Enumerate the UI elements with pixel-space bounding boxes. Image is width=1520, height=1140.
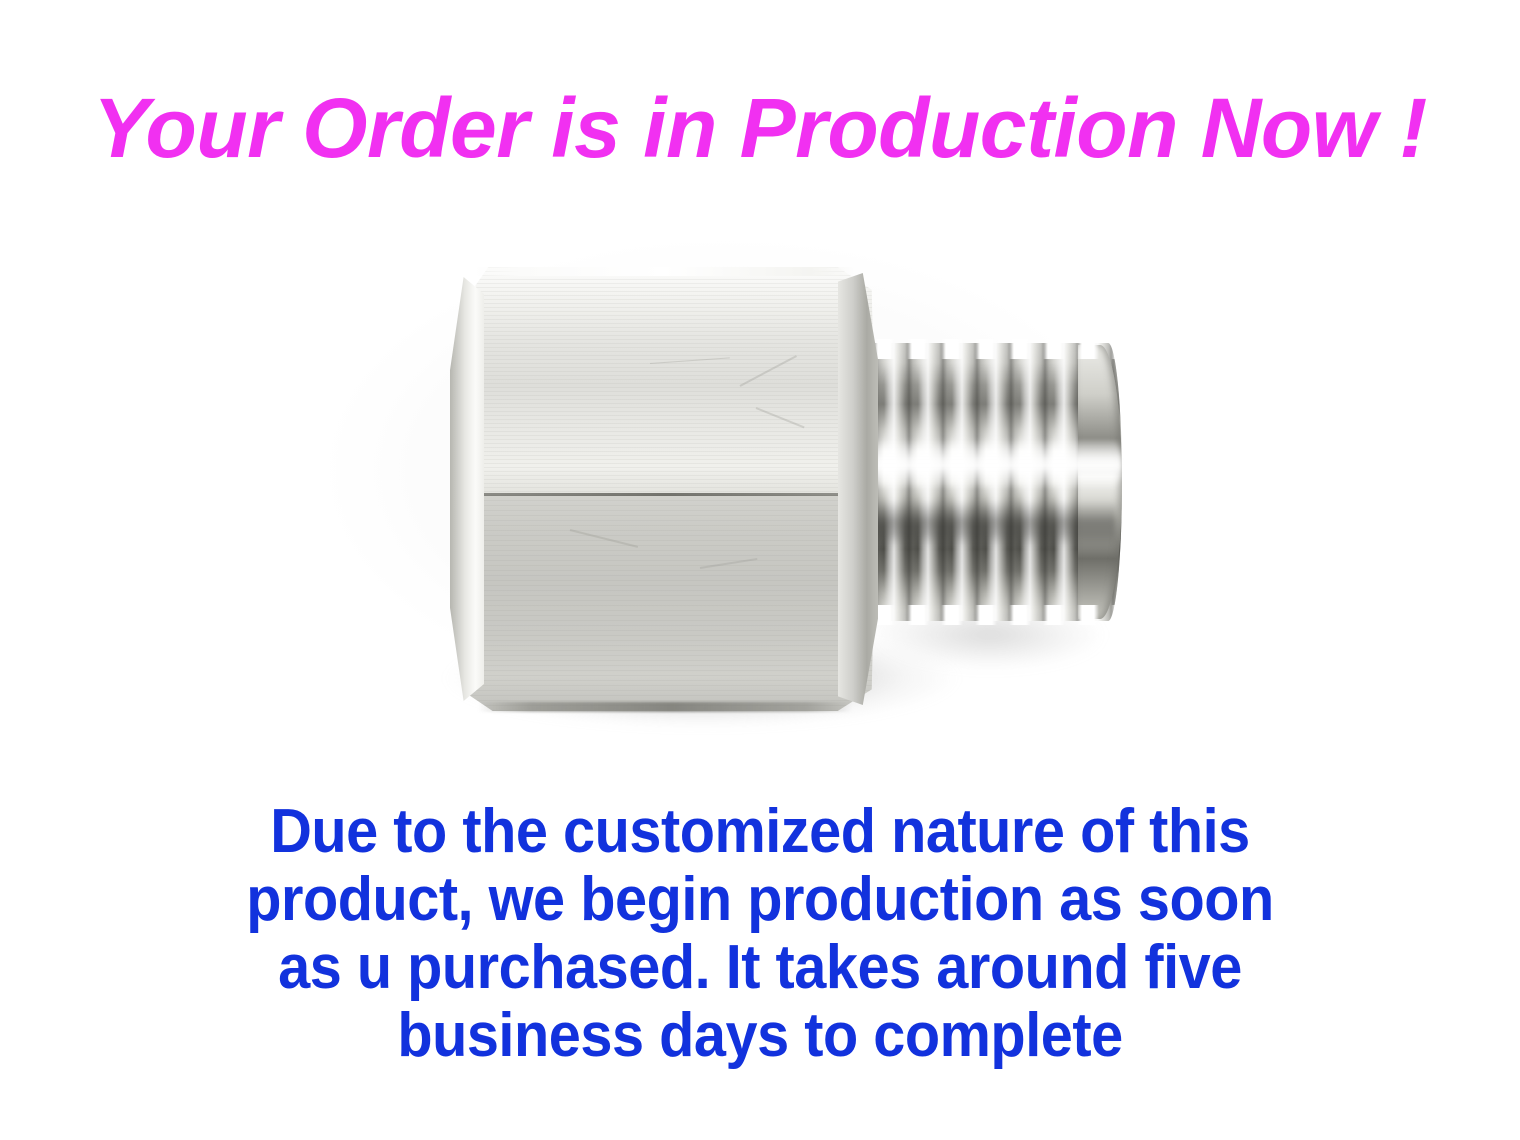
- hex-lower-machining-marks: [450, 495, 876, 711]
- hex-facet-seam: [460, 493, 870, 496]
- page-title: Your Order is in Production Now !: [0, 86, 1520, 170]
- notice-line-3: as u purchased. It takes around five: [53, 934, 1467, 1002]
- thread-teeth-bottom: [850, 605, 1122, 625]
- hex-upper-machining-marks: [450, 267, 876, 495]
- male-threaded-end: [850, 343, 1122, 621]
- thread-teeth-top: [850, 339, 1122, 359]
- notice-line-1: Due to the customized nature of this: [53, 798, 1467, 866]
- hex-bottom-edge-shadow: [478, 702, 852, 712]
- hex-top-edge-highlight: [474, 267, 856, 276]
- hex-right-chamfer: [838, 273, 878, 705]
- product-photo: [330, 215, 1230, 795]
- notice-line-2: product, we begin production as soon: [53, 866, 1467, 934]
- hex-left-chamfer: [450, 277, 484, 701]
- thread-shadow-band: [856, 501, 1116, 547]
- thread-specular-highlight: [850, 439, 1122, 489]
- production-notice: Due to the customized nature of this pro…: [0, 798, 1520, 1070]
- hex-body: [450, 267, 876, 711]
- notice-line-4: business days to complete: [53, 1002, 1467, 1070]
